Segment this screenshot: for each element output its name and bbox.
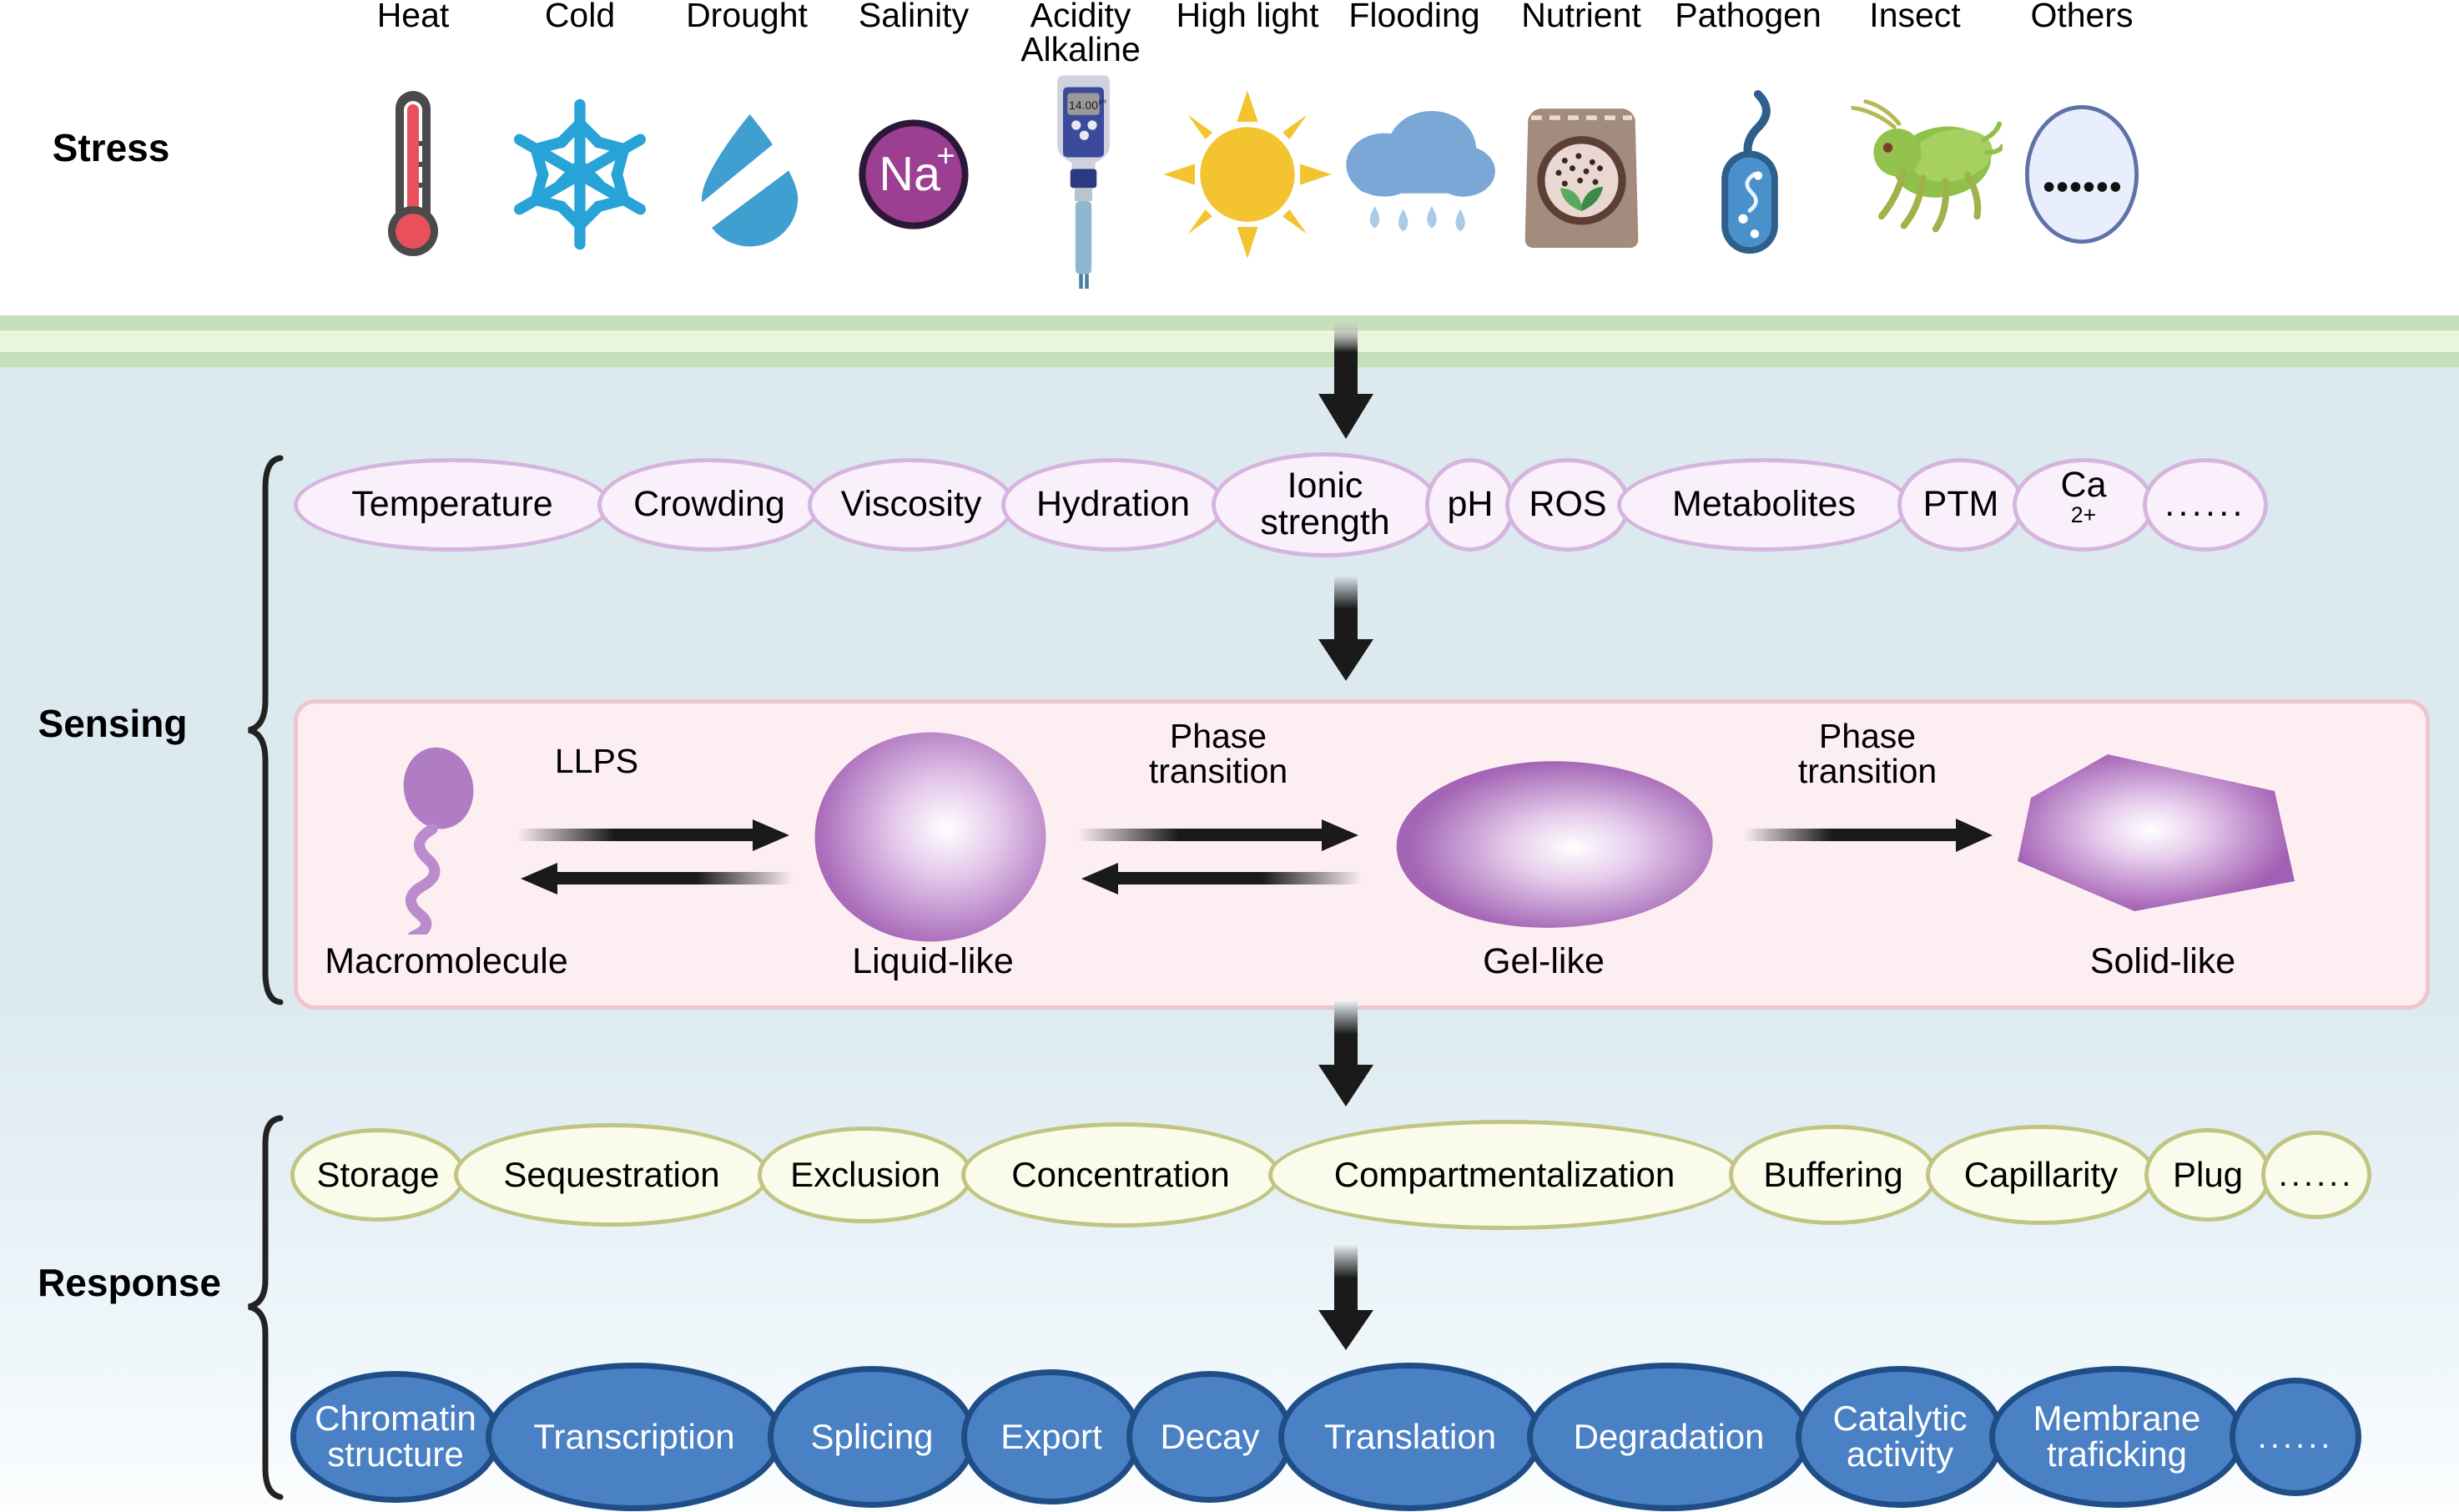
stress-item-nutrient[interactable]: Nutrient bbox=[1494, 0, 1669, 315]
process-ellipse[interactable]: Splicing bbox=[768, 1366, 976, 1508]
function-label: Compartmentalization bbox=[1334, 1157, 1675, 1193]
response-row-label: Response bbox=[0, 1260, 259, 1305]
cue-label: Metabolites bbox=[1672, 486, 1856, 523]
cue-ellipse[interactable]: pH bbox=[1425, 458, 1515, 552]
function-ellipse[interactable]: Storage bbox=[290, 1128, 466, 1222]
arrow-phase-transition-2-forward bbox=[1744, 814, 1994, 864]
phase-state-label-solid: Solid-like bbox=[1988, 941, 2338, 982]
stress-item-insect[interactable]: Insect bbox=[1827, 0, 2003, 315]
process-label: Membrane traficking bbox=[2033, 1401, 2201, 1473]
process-ellipse[interactable]: Chromatin structure bbox=[290, 1371, 501, 1503]
stress-label-nutrient: Nutrient bbox=[1521, 0, 1641, 33]
cue-label: PTM bbox=[1923, 486, 1999, 523]
process-label: Decay bbox=[1160, 1419, 1259, 1455]
function-ellipse[interactable]: Capillarity bbox=[1926, 1125, 2156, 1225]
stress-band: Stress Heat bbox=[0, 0, 2459, 315]
cue-label: ...... bbox=[2164, 486, 2245, 523]
cue-ellipse-calcium[interactable]: Ca2+ bbox=[2013, 458, 2154, 552]
process-label: Export bbox=[1000, 1419, 1101, 1455]
sensing-cue-row: Temperature Crowding Viscosity Hydration… bbox=[294, 451, 2430, 559]
process-ellipse[interactable]: Translation bbox=[1278, 1363, 1542, 1511]
sensing-row-label: Sensing bbox=[0, 701, 225, 746]
stress-label-flooding: Flooding bbox=[1348, 0, 1479, 33]
snowflake-icon bbox=[492, 33, 668, 315]
cue-label: Ionic strength bbox=[1260, 468, 1389, 542]
stress-label-drought: Drought bbox=[686, 0, 808, 33]
arrow-llps-bidirectional bbox=[517, 814, 793, 905]
arrow-cues-to-phases bbox=[1308, 576, 1383, 684]
cue-ellipse[interactable]: Ionic strength bbox=[1212, 452, 1439, 557]
cue-label: pH bbox=[1448, 486, 1494, 523]
transition-label-phase-1: Phase transition bbox=[1085, 719, 1352, 789]
process-label: Translation bbox=[1324, 1419, 1496, 1455]
membrane-outer-leaflet bbox=[0, 315, 2459, 330]
arrow-phases-to-response bbox=[1308, 1001, 1383, 1110]
cue-ellipse[interactable]: Metabolites bbox=[1617, 458, 1911, 552]
process-label: Degradation bbox=[1574, 1419, 1765, 1455]
cue-ellipse[interactable]: Viscosity bbox=[808, 458, 1015, 552]
process-ellipse[interactable]: Decay bbox=[1126, 1371, 1293, 1503]
sun-icon bbox=[1160, 33, 1335, 315]
response-brace bbox=[244, 1115, 284, 1500]
membrane-inner-leaflet bbox=[0, 352, 2459, 367]
process-label: Transcription bbox=[533, 1419, 734, 1455]
stress-item-heat[interactable]: Heat bbox=[325, 0, 501, 315]
arrow-functions-to-processes bbox=[1308, 1243, 1383, 1352]
stress-label-insect: Insect bbox=[1869, 0, 1960, 33]
ph-display-value: 14.00 bbox=[1069, 98, 1098, 112]
cue-ellipse-more[interactable]: ...... bbox=[2143, 458, 2268, 552]
stress-item-pathogen[interactable]: Pathogen bbox=[1660, 0, 1836, 315]
stress-item-high-light[interactable]: High light bbox=[1160, 0, 1335, 315]
function-label: Exclusion bbox=[790, 1157, 940, 1193]
stress-label-salinity: Salinity bbox=[859, 0, 969, 33]
function-label: Plug bbox=[2173, 1157, 2243, 1193]
stress-label-heat: Heat bbox=[377, 0, 450, 33]
membrane-core bbox=[0, 330, 2459, 352]
process-row: Chromatin structure Transcription Splici… bbox=[290, 1362, 2459, 1512]
cue-label: Hydration bbox=[1036, 486, 1190, 523]
stress-item-cold[interactable]: Cold bbox=[492, 0, 668, 315]
arrow-stress-to-sensing bbox=[1308, 315, 1383, 442]
stress-label-others: Others bbox=[2030, 0, 2133, 33]
stress-label-acidity-alkaline: Acidity Alkaline bbox=[1020, 0, 1141, 67]
stress-row-label: Stress bbox=[15, 125, 207, 170]
stress-item-drought[interactable]: Drought bbox=[659, 0, 834, 315]
function-label: Buffering bbox=[1763, 1157, 1902, 1193]
function-label: Capillarity bbox=[1964, 1157, 2118, 1193]
water-drop-icon bbox=[659, 33, 834, 315]
bacterium-icon bbox=[1660, 33, 1836, 315]
liquid-droplet-icon bbox=[801, 728, 1060, 946]
cue-ellipse[interactable]: Hydration bbox=[1001, 458, 1225, 552]
cue-label: Ca bbox=[2061, 467, 2107, 504]
plasma-membrane bbox=[0, 315, 2459, 367]
process-ellipse[interactable]: Export bbox=[961, 1369, 1141, 1504]
ph-meter-icon: 14.00 pH bbox=[993, 67, 1168, 315]
phase-state-label-liquid: Liquid-like bbox=[758, 941, 1108, 982]
process-ellipse[interactable]: Catalytic activity bbox=[1796, 1366, 2004, 1508]
cue-ellipse[interactable]: PTM bbox=[1897, 458, 2024, 552]
process-label: Catalytic activity bbox=[1832, 1401, 1967, 1473]
arrow-phase-transition-1-bidirectional bbox=[1078, 814, 1362, 905]
stress-item-acidity-alkaline[interactable]: Acidity Alkaline 14.00 pH bbox=[993, 0, 1168, 315]
function-ellipse[interactable]: Concentration bbox=[961, 1122, 1280, 1227]
stress-item-others[interactable]: Others bbox=[1994, 0, 2169, 315]
function-label: ...... bbox=[2279, 1158, 2355, 1192]
function-label: Concentration bbox=[1011, 1157, 1230, 1193]
cue-label: Viscosity bbox=[841, 486, 982, 523]
ph-display-unit: pH bbox=[1099, 99, 1106, 105]
function-ellipse[interactable]: Sequestration bbox=[454, 1123, 769, 1227]
function-ellipse[interactable]: Buffering bbox=[1729, 1125, 1937, 1225]
stress-label-high-light: High light bbox=[1177, 0, 1319, 33]
function-ellipse[interactable]: Compartmentalization bbox=[1268, 1120, 1741, 1230]
cue-label: Crowding bbox=[633, 486, 785, 523]
sodium-charge: + bbox=[936, 138, 955, 174]
phase-state-label-macromolecule: Macromolecule bbox=[271, 941, 622, 982]
function-ellipse-more[interactable]: ...... bbox=[2261, 1131, 2371, 1219]
stress-label-pathogen: Pathogen bbox=[1675, 0, 1822, 33]
thermometer-icon bbox=[325, 33, 501, 315]
process-ellipse[interactable]: Degradation bbox=[1527, 1363, 1811, 1511]
stress-label-cold: Cold bbox=[545, 0, 615, 33]
cue-ellipse[interactable]: Crowding bbox=[597, 458, 821, 552]
response-function-row: Storage Sequestration Exclusion Concentr… bbox=[290, 1118, 2459, 1232]
cue-label: Temperature bbox=[351, 486, 552, 523]
function-ellipse[interactable]: Exclusion bbox=[758, 1126, 973, 1223]
stress-item-flooding[interactable]: Flooding bbox=[1327, 0, 1502, 315]
stress-item-salinity[interactable]: Salinity Na + bbox=[826, 0, 1001, 315]
solid-polygon-icon bbox=[1988, 744, 2338, 928]
transition-label-llps: LLPS bbox=[463, 744, 730, 779]
process-label: Splicing bbox=[810, 1419, 933, 1455]
sensing-brace bbox=[244, 455, 284, 1005]
phase-state-label-gel: Gel-like bbox=[1368, 941, 1719, 982]
function-label: Sequestration bbox=[503, 1157, 719, 1193]
cue-label: ROS bbox=[1529, 486, 1606, 523]
function-label: Storage bbox=[316, 1157, 439, 1193]
process-label: Chromatin structure bbox=[315, 1401, 476, 1473]
stress-items: Heat Cold bbox=[325, 0, 2459, 315]
gel-blob-icon bbox=[1368, 751, 1727, 935]
sodium-ion-icon: Na + bbox=[826, 33, 1001, 315]
sodium-symbol: Na bbox=[879, 148, 941, 201]
cue-label-superscript: 2+ bbox=[2071, 502, 2096, 527]
cue-ellipse[interactable]: Temperature bbox=[294, 458, 611, 552]
fertilizer-bag-icon bbox=[1494, 33, 1669, 315]
aphid-icon bbox=[1827, 33, 2003, 315]
process-label: ...... bbox=[2258, 1420, 2334, 1454]
function-ellipse[interactable]: Plug bbox=[2144, 1128, 2271, 1222]
process-ellipse-more[interactable]: ...... bbox=[2230, 1378, 2361, 1496]
cue-ellipse[interactable]: ROS bbox=[1505, 458, 1630, 552]
diagram-canvas: Stress Heat bbox=[0, 0, 2459, 1512]
process-ellipse[interactable]: Transcription bbox=[486, 1363, 783, 1511]
process-ellipse[interactable]: Membrane traficking bbox=[1989, 1366, 2245, 1508]
transition-label-phase-2: Phase transition bbox=[1734, 719, 2001, 789]
rain-cloud-icon bbox=[1327, 33, 1502, 315]
ellipsis-ellipse-icon bbox=[1994, 33, 2169, 315]
